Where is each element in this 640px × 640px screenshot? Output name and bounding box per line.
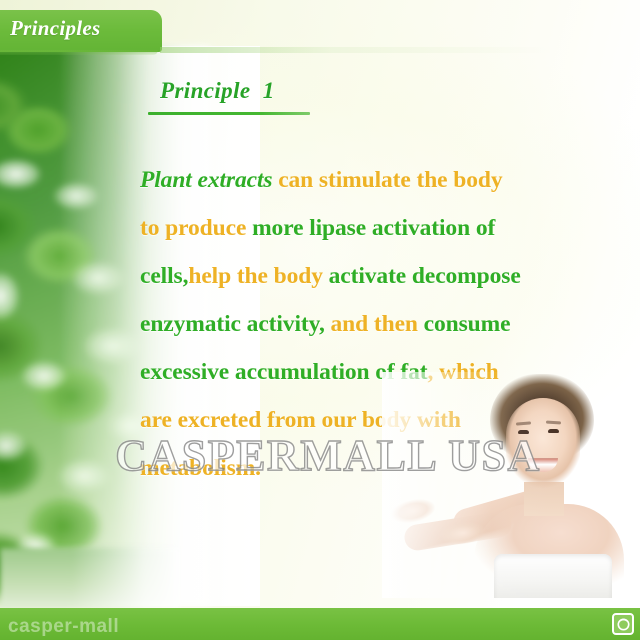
header-banner-shadow bbox=[0, 50, 158, 55]
footer-bar: casper-mall bbox=[0, 608, 640, 640]
copy-segment: can stimulate the body bbox=[272, 167, 502, 193]
copy-segment: and then bbox=[331, 311, 424, 337]
copy-segment: to produce bbox=[140, 215, 252, 241]
copy-line: cells,help the body activate decompose bbox=[140, 252, 626, 300]
copy-line: Plant extracts can stimulate the body bbox=[140, 156, 626, 204]
copy-segment: metabolism. bbox=[140, 455, 261, 481]
leaf-photo-bottom-strip bbox=[0, 548, 180, 608]
header-banner-trail bbox=[160, 47, 640, 53]
copy-segment: Plant extracts bbox=[140, 167, 272, 193]
product-description-banner: Principles Principle 1 Plant extracts ca… bbox=[0, 0, 640, 640]
copy-segment: more lipase activation of bbox=[252, 215, 495, 241]
copy-segment: cells, bbox=[140, 263, 188, 289]
footer-brand-label: casper-mall bbox=[8, 617, 119, 636]
copy-segment: activate decompose bbox=[329, 263, 521, 289]
smiling-woman-presenting-photo bbox=[382, 372, 630, 598]
section-heading: Principle 1 bbox=[160, 79, 275, 102]
copy-line: enzymatic activity, and then consume bbox=[140, 300, 626, 348]
casper-mall-logo-icon bbox=[612, 613, 634, 635]
copy-segment: help the body bbox=[188, 263, 328, 289]
section-heading-underline bbox=[148, 112, 310, 115]
model-photo-fade-overlay bbox=[382, 372, 630, 598]
copy-segment: enzymatic activity, bbox=[140, 311, 331, 337]
page-title: Principles bbox=[10, 18, 160, 39]
copy-segment: consume bbox=[424, 311, 511, 337]
copy-line: to produce more lipase activation of bbox=[140, 204, 626, 252]
